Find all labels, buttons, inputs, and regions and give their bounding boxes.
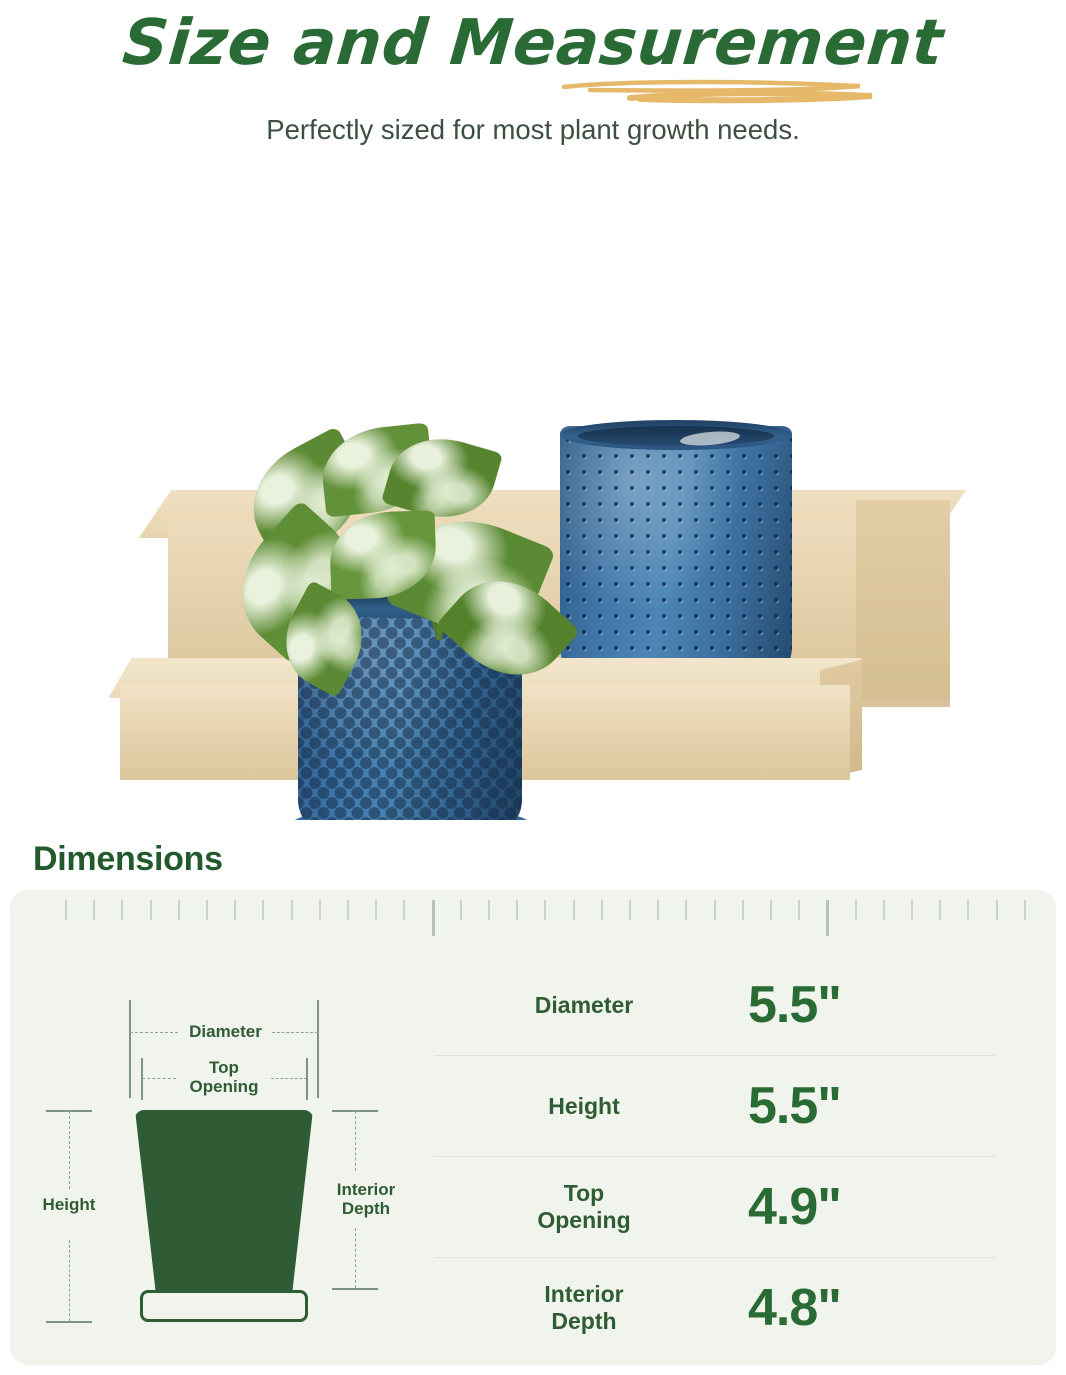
ruler-tick-minor: [375, 900, 377, 920]
top-opening-line1: Top: [209, 1058, 239, 1077]
dimension-label-line2: Depth: [551, 1308, 616, 1334]
ruler-tick-minor: [65, 900, 67, 920]
diagram-label-diameter: Diameter: [178, 1022, 273, 1041]
hobnail-texture-overlay: [560, 432, 792, 676]
ruler-tick-minor: [883, 900, 885, 920]
top-opening-dash-right: [271, 1078, 307, 1079]
interior-depth-cap-bottom: [332, 1288, 378, 1290]
page-subtitle: Perfectly sized for most plant growth ne…: [0, 113, 1066, 147]
ruler-tick-minor: [150, 900, 152, 920]
ruler-tick-minor: [939, 900, 941, 920]
ruler-tick-minor: [234, 900, 236, 920]
diameter-dash-right: [272, 1032, 318, 1033]
diameter-extension-right: [317, 1000, 319, 1098]
dimension-label-line1: Interior: [544, 1281, 623, 1307]
table-row: Diameter 5.5": [434, 955, 996, 1056]
interior-depth-line2: Depth: [342, 1199, 390, 1218]
title-underline-swoosh: [560, 78, 880, 104]
dimension-label: Interior Depth: [434, 1281, 734, 1335]
diameter-dash-left: [130, 1032, 178, 1033]
ruler-tick-minor: [685, 900, 687, 920]
table-row: Interior Depth 4.8": [434, 1258, 996, 1358]
ruler-tick-minor: [967, 900, 969, 920]
dimension-label: Diameter: [434, 992, 734, 1019]
ruler-tick-minor: [996, 900, 998, 920]
hobnail-pot-interior: [578, 426, 774, 446]
ruler-tick-minor: [93, 900, 95, 920]
ruler-tick-minor: [121, 900, 123, 920]
back-riser-side: [856, 500, 950, 700]
table-row: Top Opening 4.9": [434, 1157, 996, 1258]
diameter-extension-left: [129, 1000, 131, 1098]
ruler-tick-minor: [573, 900, 575, 920]
height-cap-bottom: [46, 1321, 92, 1323]
interior-depth-dash-lower: [355, 1228, 356, 1288]
pot-dimension-diagram: Diameter Top Opening Height Interior Dep…: [30, 990, 420, 1350]
ruler-tick-minor: [657, 900, 659, 920]
page-title: Size and Measurement: [120, 8, 946, 78]
diagram-label-top-opening: Top Opening: [176, 1058, 272, 1096]
pot-illustration: [135, 1110, 313, 1298]
height-dash-upper: [69, 1111, 70, 1189]
dimension-label: Top Opening: [434, 1180, 734, 1234]
top-opening-extension-right: [306, 1058, 308, 1100]
ruler-tick-minor: [770, 900, 772, 920]
ruler-tick-minor: [544, 900, 546, 920]
diagram-label-interior-depth: Interior Depth: [316, 1180, 416, 1218]
dimensions-heading: Dimensions: [33, 840, 223, 879]
ruler-tick-minor: [629, 900, 631, 920]
saucer-illustration: [140, 1290, 308, 1322]
ruler-tick-minor: [601, 900, 603, 920]
ruler-tick-minor: [855, 900, 857, 920]
title-container: Size and Measurement: [0, 8, 1066, 78]
dimension-label-line2: Opening: [537, 1207, 630, 1233]
ruler-tick-minor: [291, 900, 293, 920]
header: Size and Measurement Perfectly sized for…: [0, 0, 1066, 170]
diagram-label-height: Height: [26, 1195, 112, 1214]
interior-depth-dash-upper: [355, 1111, 356, 1171]
dimension-label: Height: [434, 1093, 734, 1120]
ruler-tick-minor: [742, 900, 744, 920]
ruler-tick-minor: [516, 900, 518, 920]
dimension-label-line1: Top: [564, 1180, 604, 1206]
top-opening-extension-left: [141, 1058, 143, 1100]
interior-depth-line1: Interior: [337, 1180, 396, 1199]
dimension-value: 5.5": [734, 1079, 996, 1133]
product-photo: [0, 170, 1066, 820]
dimension-value: 5.5": [734, 978, 996, 1032]
ruler-tick-major: [826, 900, 829, 936]
ruler-tick-minor: [714, 900, 716, 920]
ruler-tick-minor: [1024, 900, 1026, 920]
dimension-value: 4.9": [734, 1180, 996, 1234]
dimension-value: 4.8": [734, 1281, 996, 1335]
top-opening-line2: Opening: [190, 1077, 259, 1096]
ruler-tick-major: [432, 900, 435, 936]
ruler-tick-minor: [798, 900, 800, 920]
ruler-graphic: [10, 890, 1056, 938]
table-row: Height 5.5": [434, 1056, 996, 1157]
dimensions-table: Diameter 5.5" Height 5.5" Top Opening 4.…: [434, 955, 996, 1358]
ruler-tick-minor: [403, 900, 405, 920]
ruler-tick-minor: [911, 900, 913, 920]
top-opening-dash-left: [142, 1078, 176, 1079]
ruler-tick-minor: [347, 900, 349, 920]
ruler-tick-minor: [319, 900, 321, 920]
ruler-tick-minor: [262, 900, 264, 920]
ruler-tick-minor: [206, 900, 208, 920]
ruler-tick-minor: [488, 900, 490, 920]
height-dash-lower: [69, 1240, 70, 1321]
ruler-tick-minor: [460, 900, 462, 920]
ruler-tick-minor: [178, 900, 180, 920]
